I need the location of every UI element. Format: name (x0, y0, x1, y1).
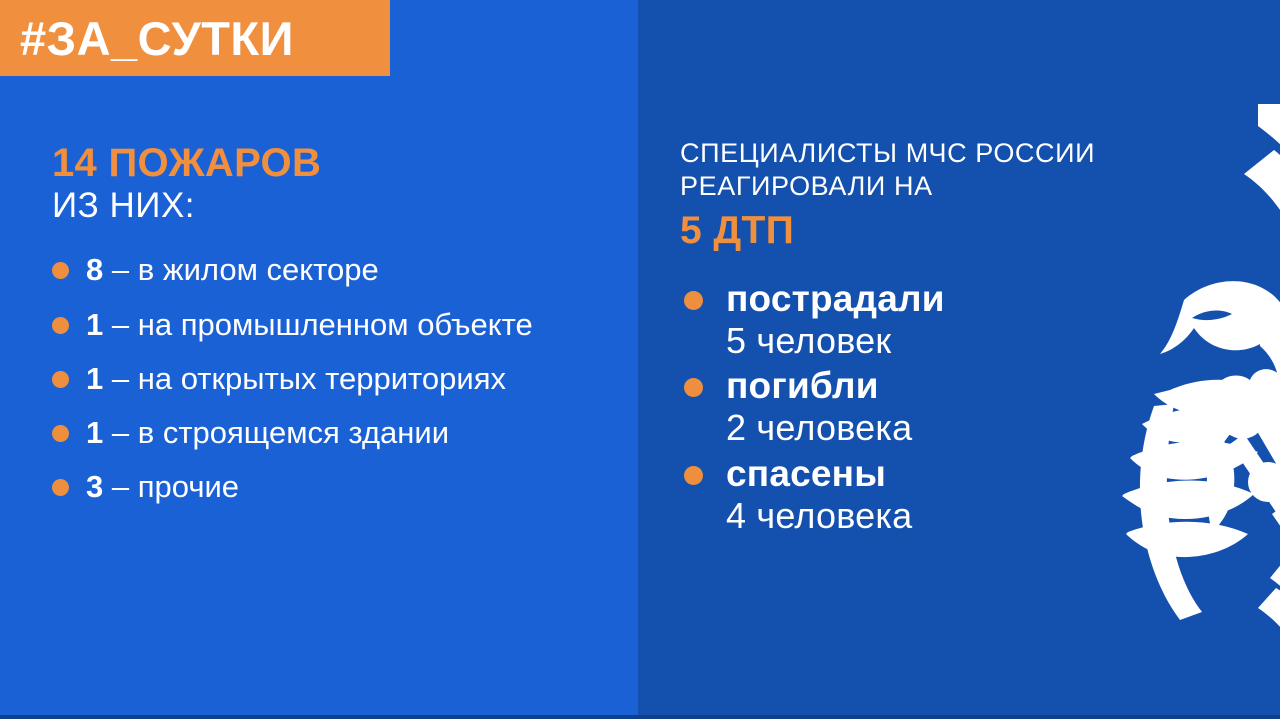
list-item: 1 – на промышленном объекте (52, 306, 616, 343)
fire-item-count: 1 (86, 415, 103, 450)
list-item: 3 – прочие (52, 468, 616, 505)
fire-item-dash: – (112, 252, 129, 287)
outcome-count: 2 человека (726, 407, 1260, 449)
fire-item-dash: – (112, 307, 129, 342)
fires-headline: 14 ПОЖАРОВ (52, 143, 616, 184)
accidents-section: СПЕЦИАЛИСТЫ МЧС РОССИИ РЕАГИРОВАЛИ НА 5 … (638, 0, 1280, 715)
infographic-canvas: #ЗА_СУТКИ 14 ПОЖАРОВ ИЗ НИХ: 8 – в жилом… (0, 0, 1280, 719)
fire-item-text: на открытых территориях (138, 361, 506, 396)
fire-item-count: 8 (86, 252, 103, 287)
list-item: 1 – на открытых территориях (52, 360, 616, 397)
list-item: погибли 2 человека (680, 365, 1260, 449)
bullet-dot-icon (52, 262, 69, 279)
fires-breakdown-list: 8 – в жилом секторе 1 – на промышленном … (52, 251, 616, 505)
outcome-count: 5 человек (726, 320, 1260, 362)
list-item: 8 – в жилом секторе (52, 251, 616, 288)
bullet-dot-icon (52, 317, 69, 334)
hashtag-banner-label: #ЗА_СУТКИ (20, 15, 294, 62)
fire-item-count: 1 (86, 361, 103, 396)
outcome-label: пострадали (726, 278, 1260, 320)
bullet-dot-icon (684, 291, 703, 310)
fire-item-dash: – (112, 361, 129, 396)
outcome-label: погибли (726, 365, 1260, 407)
accidents-outcome-list: пострадали 5 человек погибли 2 человека … (680, 278, 1260, 537)
list-item: спасены 4 человека (680, 453, 1260, 537)
bottom-edge-strip (0, 715, 1280, 719)
fire-item-text: в строящемся здании (138, 415, 449, 450)
accidents-headline: 5 ДТП (680, 211, 1260, 252)
fire-item-dash: – (112, 469, 129, 504)
bullet-dot-icon (52, 425, 69, 442)
list-item: пострадали 5 человек (680, 278, 1260, 362)
fires-subhead: ИЗ НИХ: (52, 186, 616, 225)
bullet-dot-icon (52, 371, 69, 388)
bullet-dot-icon (52, 479, 69, 496)
fire-item-dash: – (112, 415, 129, 450)
bullet-dot-icon (684, 466, 703, 485)
accidents-intro-line2: РЕАГИРОВАЛИ НА (680, 170, 1260, 203)
outcome-label: спасены (726, 453, 1260, 495)
list-item: 1 – в строящемся здании (52, 414, 616, 451)
fire-item-count: 3 (86, 469, 103, 504)
fire-item-text: в жилом секторе (138, 252, 379, 287)
fire-item-text: прочие (138, 469, 239, 504)
bullet-dot-icon (684, 378, 703, 397)
fires-section: 14 ПОЖАРОВ ИЗ НИХ: 8 – в жилом секторе 1… (0, 0, 638, 715)
accidents-intro-line1: СПЕЦИАЛИСТЫ МЧС РОССИИ (680, 137, 1260, 170)
fire-item-count: 1 (86, 307, 103, 342)
outcome-count: 4 человека (726, 495, 1260, 537)
hashtag-banner: #ЗА_СУТКИ (0, 0, 390, 76)
fire-item-text: на промышленном объекте (138, 307, 533, 342)
